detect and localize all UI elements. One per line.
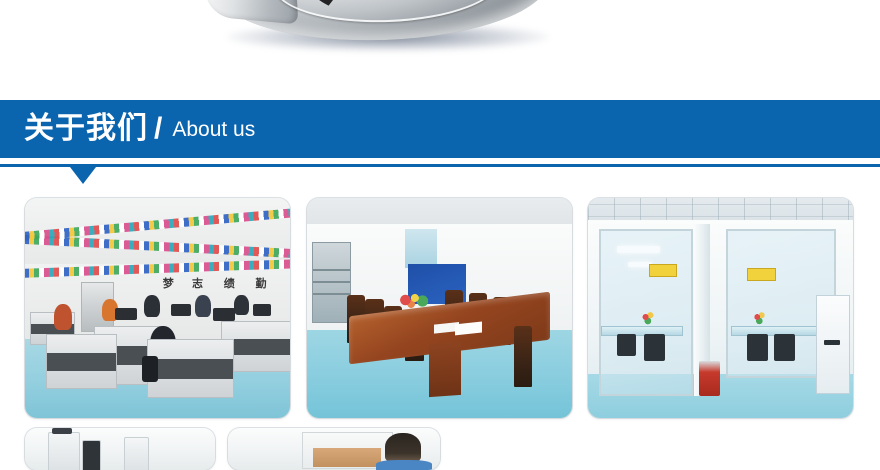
section-title-separator: /: [154, 114, 162, 144]
meeting-chair: [514, 326, 533, 388]
cleanroom-stool: [774, 334, 795, 360]
cleanroom-warning-sign: [747, 268, 776, 281]
cleanroom-warning-sign: [649, 264, 678, 277]
worker-figure: [385, 433, 421, 462]
photo-meeting-room[interactable]: [307, 198, 572, 418]
section-title-chinese: 关于我们: [24, 114, 148, 144]
cleanroom-workbench: [601, 326, 683, 337]
photo-lab-equipment[interactable]: [25, 428, 215, 470]
meeting-window: [405, 229, 437, 269]
office-monitor: [171, 304, 191, 316]
cardboard-box: [313, 448, 381, 467]
office-monitor: [213, 308, 235, 321]
wall-character: 志: [192, 275, 203, 291]
office-person: [144, 295, 160, 317]
office-person: [195, 295, 211, 317]
lab-instrument-top: [52, 428, 73, 434]
meeting-table-leg: [429, 342, 461, 397]
cleanroom-cabinet: [816, 295, 850, 394]
lab-cable: [82, 440, 101, 470]
office-monitor: [253, 304, 271, 316]
photo-cleanroom[interactable]: [588, 198, 853, 418]
cleanroom-plant: [638, 308, 657, 326]
cleanroom-stool: [617, 334, 636, 356]
lab-instrument: [124, 437, 149, 470]
office-chair: [142, 356, 158, 382]
office-cubicle: [46, 334, 117, 389]
cleanroom-stool: [644, 334, 665, 360]
office-cubicle: [147, 339, 234, 398]
cleanroom-stool: [747, 334, 768, 360]
section-header-underline: [0, 164, 880, 167]
section-title-english: About us: [172, 119, 255, 140]
meeting-display-shelf: [312, 242, 351, 323]
cleanroom-plant: [750, 308, 769, 326]
office-person: [54, 304, 72, 330]
section-header-bar: 关于我们 / About us ® 创星邦 Innovation Group: [0, 100, 880, 158]
section-header-arrow-icon: [70, 167, 96, 184]
office-person: [234, 295, 249, 315]
office-monitor: [115, 308, 137, 320]
product-photo: [196, 0, 568, 54]
section-title: 关于我们 / About us: [24, 100, 255, 158]
wall-character: 绩: [224, 275, 235, 291]
hero-product-banner: [0, 0, 880, 96]
photo-worker-machine[interactable]: [228, 428, 440, 470]
wall-character: 勤: [256, 275, 267, 291]
wall-character: 梦: [163, 275, 174, 291]
photo-office[interactable]: 梦 志 绩 勤: [25, 198, 290, 418]
fire-extinguisher-icon: [699, 361, 720, 396]
registered-trademark-icon: ®: [855, 201, 862, 211]
cleanroom-light: [617, 246, 659, 253]
worker-shirt: [376, 460, 431, 470]
lab-instrument: [48, 432, 80, 470]
